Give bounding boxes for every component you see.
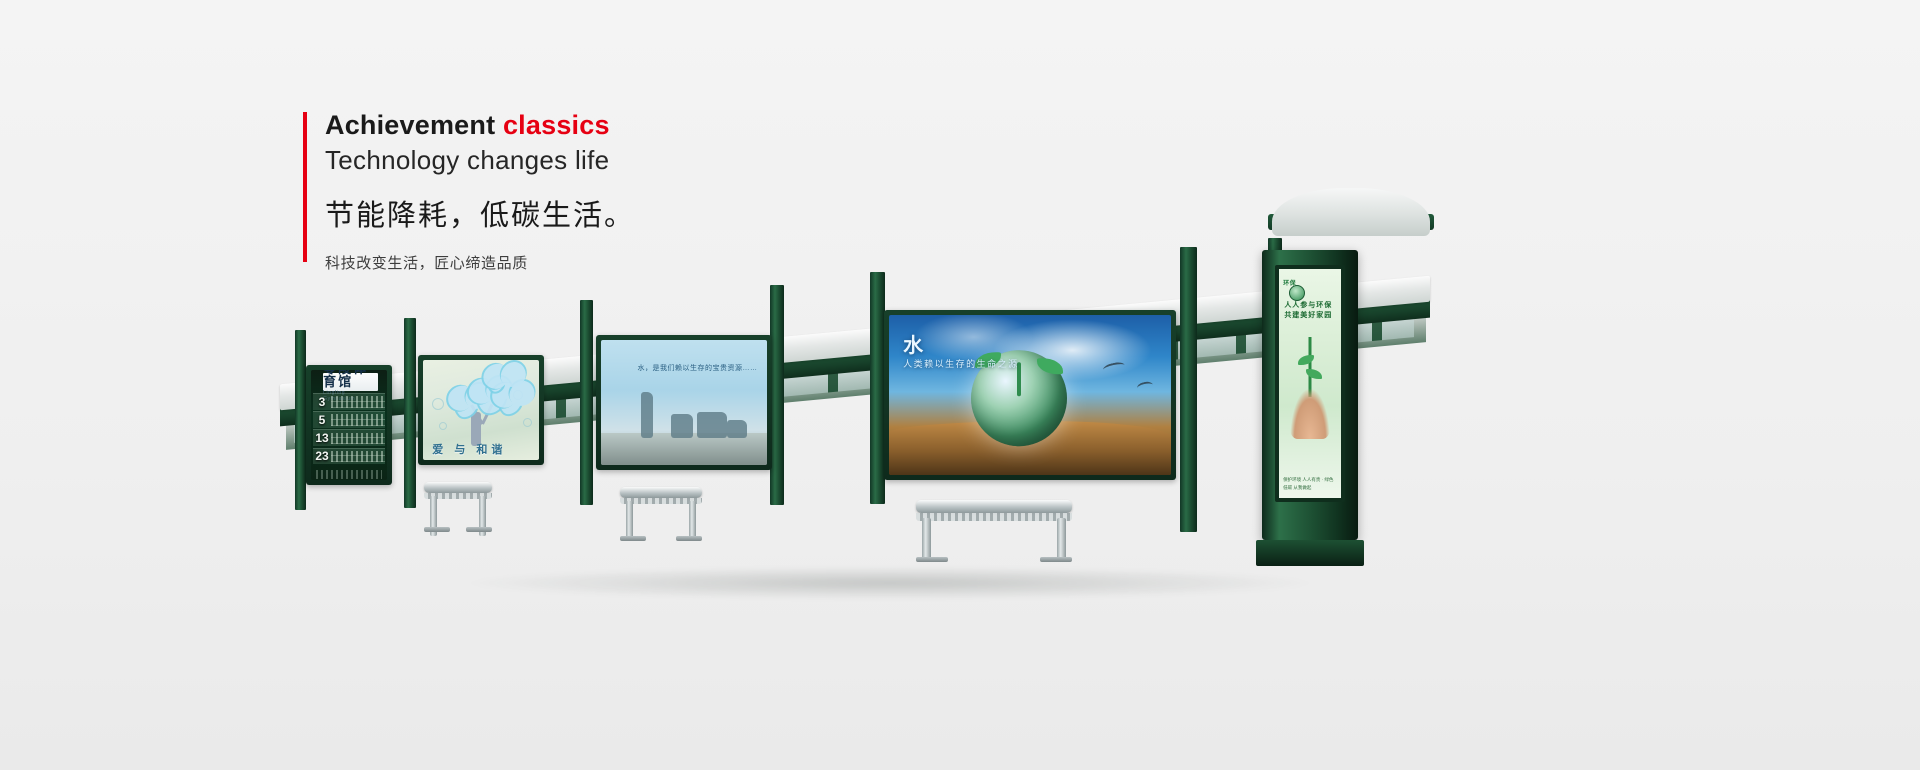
shelter-canopy bbox=[280, 196, 1430, 356]
artwork-caption: 爱 与 和谐 bbox=[432, 441, 506, 457]
bench-1 bbox=[424, 482, 492, 532]
artwork-title: 水 bbox=[903, 329, 924, 358]
lightbox-screen[interactable]: 爱 与 和谐 bbox=[423, 360, 539, 460]
artwork-subtitle: 人类赖以生存的生命之源 bbox=[903, 357, 1019, 370]
lightbox-panel-hearts[interactable]: 爱 与 和谐 bbox=[418, 355, 544, 465]
end-cap-top bbox=[1272, 188, 1430, 236]
lightbox-panel-wildlife[interactable]: 水，是我们赖以生存的宝贵资源…… bbox=[596, 335, 772, 470]
route-stop-strip bbox=[331, 451, 385, 462]
artwork-love-harmony: 爱 与 和谐 bbox=[423, 360, 539, 460]
bench-2 bbox=[620, 487, 702, 541]
decor-bubble bbox=[523, 418, 532, 427]
bench-slats bbox=[916, 513, 1072, 521]
lightbox-screen[interactable]: 水，是我们赖以生存的宝贵资源…… bbox=[601, 340, 767, 465]
route-schedule-board[interactable]: 零陵体育馆 Lingling Gymnasium 3 5 bbox=[311, 370, 387, 480]
bench-seat bbox=[916, 500, 1072, 513]
hands-illustration bbox=[1290, 388, 1329, 439]
route-stop-strip bbox=[331, 433, 385, 444]
support-post-4 bbox=[770, 285, 784, 505]
support-post-1 bbox=[295, 330, 306, 510]
lightbox-panel-water[interactable]: 水 人类赖以生存的生命之源 bbox=[884, 310, 1176, 480]
support-post-2 bbox=[404, 318, 416, 508]
tower-head-text: 环保 bbox=[1283, 278, 1296, 287]
bench-seat bbox=[424, 482, 492, 493]
station-name-header: 零陵体育馆 Lingling Gymnasium bbox=[323, 373, 378, 391]
tower-footer-text: 保护环境 人人有责 · 绿色低碳 从我做起 bbox=[1283, 476, 1337, 491]
bench-foot bbox=[466, 527, 492, 532]
route-row[interactable]: 13 bbox=[313, 429, 386, 446]
canopy-end-cap bbox=[1272, 188, 1430, 236]
station-name-cn: 零陵体育馆 bbox=[323, 370, 378, 388]
bench-foot bbox=[620, 536, 646, 541]
elephant-silhouette bbox=[697, 412, 727, 438]
bench-leg bbox=[626, 501, 633, 541]
route-row[interactable]: 23 bbox=[313, 448, 386, 465]
camel-silhouette bbox=[671, 414, 693, 438]
lightbox-screen[interactable]: 水 人类赖以生存的生命之源 bbox=[889, 315, 1171, 475]
schedule-lightbox[interactable]: 零陵体育馆 Lingling Gymnasium 3 5 bbox=[306, 365, 392, 485]
artwork-caption: 水，是我们赖以生存的宝贵资源…… bbox=[638, 363, 758, 373]
zebra-silhouette bbox=[727, 420, 747, 438]
support-post-5 bbox=[870, 272, 885, 504]
artwork-wildlife: 水，是我们赖以生存的宝贵资源…… bbox=[601, 340, 767, 465]
route-number: 13 bbox=[313, 431, 332, 445]
eco-logo-icon bbox=[1289, 285, 1305, 301]
bench-leg bbox=[689, 501, 696, 541]
tower-title: 人人参与环保 共建美好家园 bbox=[1284, 301, 1337, 322]
decor-bubble bbox=[439, 422, 447, 430]
route-number: 3 bbox=[313, 395, 332, 409]
tower-screen[interactable]: 环保 人人参与环保 共建美好家园 保护环境 人人有责 · 绿色低碳 从我做起 bbox=[1275, 265, 1344, 503]
scene-background: Achievement classics Technology changes … bbox=[0, 0, 1920, 770]
route-stop-strip bbox=[331, 396, 385, 407]
bus-shelter-product: 零陵体育馆 Lingling Gymnasium 3 5 bbox=[0, 0, 1920, 770]
route-rows: 3 5 13 23 bbox=[313, 393, 386, 469]
support-post-6 bbox=[1180, 247, 1197, 532]
vertical-led-billboard[interactable]: 环保 人人参与环保 共建美好家园 保护环境 人人有责 · 绿色低碳 从我做起 bbox=[1262, 250, 1358, 540]
decor-bubble bbox=[432, 398, 444, 410]
bench-leg bbox=[922, 518, 931, 562]
schedule-screen[interactable]: 零陵体育馆 Lingling Gymnasium 3 5 bbox=[311, 370, 387, 480]
bench-foot bbox=[676, 536, 702, 541]
bench-seat bbox=[620, 487, 702, 498]
bench-leg bbox=[1057, 518, 1066, 562]
support-post-3 bbox=[580, 300, 593, 505]
giraffe-silhouette bbox=[641, 392, 653, 438]
route-row[interactable]: 3 bbox=[313, 393, 386, 410]
route-row[interactable]: 5 bbox=[313, 411, 386, 428]
bench-3 bbox=[916, 500, 1072, 562]
route-number: 23 bbox=[313, 449, 332, 463]
ground-shadow bbox=[300, 560, 1480, 606]
route-stop-strip bbox=[331, 414, 385, 425]
bench-foot bbox=[424, 527, 450, 532]
artwork-water: 水 人类赖以生存的生命之源 bbox=[889, 315, 1171, 475]
schedule-footer-strip bbox=[316, 470, 383, 479]
route-number: 5 bbox=[313, 413, 332, 427]
